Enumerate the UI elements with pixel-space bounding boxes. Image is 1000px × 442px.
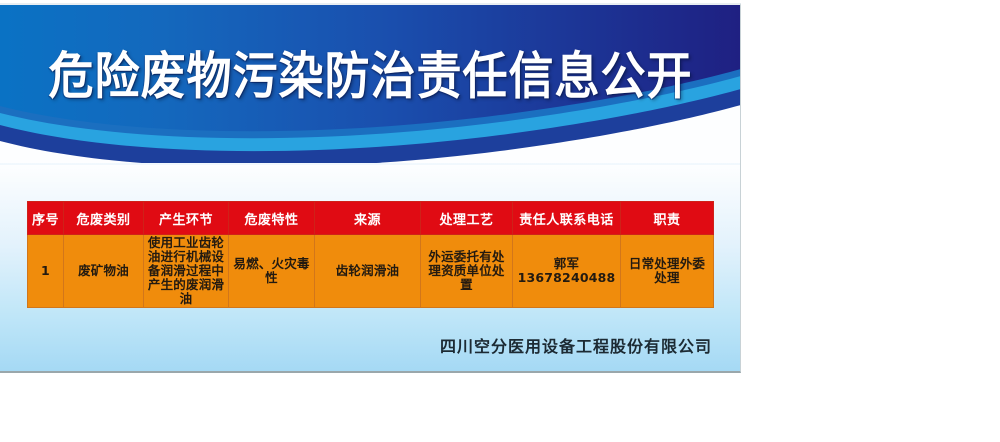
cell-duty: 日常处理外委处理 xyxy=(621,235,714,308)
column-header-treatment-process: 处理工艺 xyxy=(421,202,513,235)
cell-contact: 郭军 13678240488 xyxy=(513,235,621,308)
poster-banner xyxy=(0,5,741,163)
column-header-contact-phone: 责任人联系电话 xyxy=(513,202,621,235)
contact-name: 郭军 xyxy=(515,257,618,271)
cell-hazard-property: 易燃、火灾毒性 xyxy=(229,235,315,308)
column-header-source: 来源 xyxy=(315,202,421,235)
contact-phone: 13678240488 xyxy=(515,271,618,285)
column-header-hazard-property: 危废特性 xyxy=(229,202,315,235)
column-header-duty: 职责 xyxy=(621,202,714,235)
table-header-row: 序号 危废类别 产生环节 危废特性 来源 处理工艺 责任人联系电话 职责 xyxy=(28,202,714,235)
cell-treatment-process: 外运委托有处理资质单位处置 xyxy=(421,235,513,308)
column-header-generation-stage: 产生环节 xyxy=(144,202,229,235)
banner-swoosh-graphic xyxy=(0,5,741,163)
cell-source: 齿轮润滑油 xyxy=(315,235,421,308)
table-row: 1 废矿物油 使用工业齿轮油进行机械设备润滑过程中产生的废润滑油 易燃、火灾毒性… xyxy=(28,235,714,308)
cell-category: 废矿物油 xyxy=(64,235,144,308)
company-name: 四川空分医用设备工程股份有限公司 xyxy=(440,333,712,357)
cell-seq: 1 xyxy=(28,235,64,308)
hazardous-waste-table: 序号 危废类别 产生环节 危废特性 来源 处理工艺 责任人联系电话 职责 1 废… xyxy=(27,201,714,308)
poster-card: 危险废物污染防治责任信息公开 序号 危废类别 产生环节 危废特性 来源 xyxy=(0,3,741,373)
cell-generation-stage: 使用工业齿轮油进行机械设备润滑过程中产生的废润滑油 xyxy=(144,235,229,308)
column-header-category: 危废类别 xyxy=(64,202,144,235)
hazardous-waste-table-wrap: 序号 危废类别 产生环节 危废特性 来源 处理工艺 责任人联系电话 职责 1 废… xyxy=(27,201,713,308)
column-header-seq: 序号 xyxy=(28,202,64,235)
